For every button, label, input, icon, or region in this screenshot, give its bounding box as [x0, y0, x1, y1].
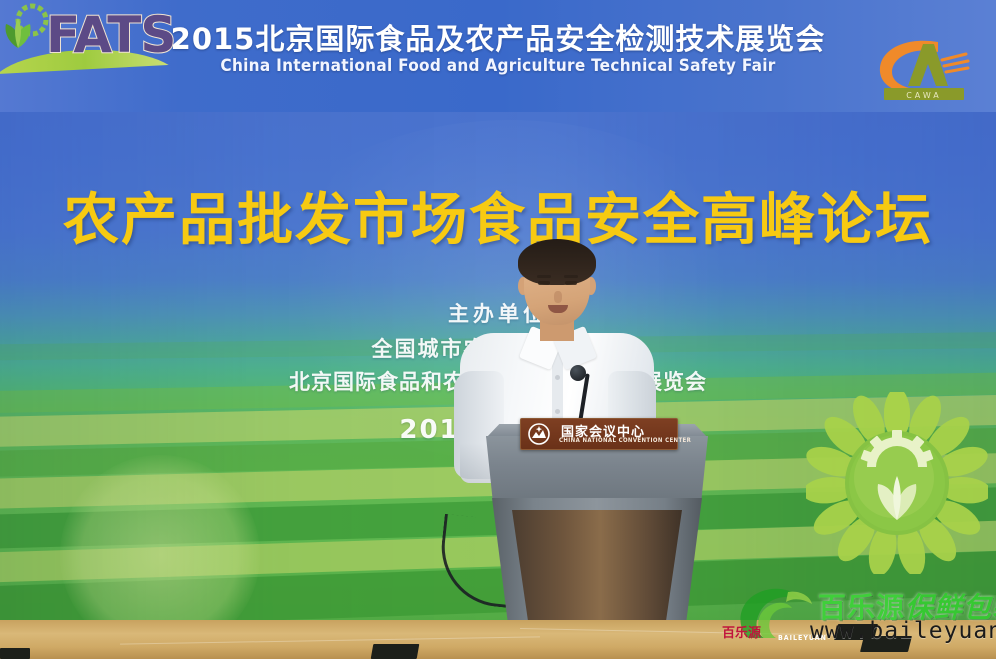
fair-title-english: China International Food and Agriculture… — [0, 56, 996, 76]
eyebrow-left — [537, 275, 551, 278]
hair — [518, 239, 596, 285]
fair-title-chinese: 2015北京国际食品及农产品安全检测技术展览会 — [0, 16, 996, 58]
ccnc-mountain-icon — [527, 423, 551, 445]
watermark: 百乐源保鲜包装 百乐源 BAILEYUAN www.baileyuan.cn — [722, 582, 996, 656]
floor-object — [0, 648, 30, 659]
podium: 国家会议中心 CHINA NATIONAL CONVENTION CENTER — [486, 424, 708, 628]
venue-plaque: 国家会议中心 CHINA NATIONAL CONVENTION CENTER — [520, 418, 678, 450]
svg-text:CAWA: CAWA — [906, 91, 942, 100]
eye-right — [565, 281, 577, 285]
eyebrow-right — [564, 275, 578, 278]
cawa-wheat-icon: CAWA — [868, 30, 978, 108]
podium-wood-panel — [512, 510, 682, 628]
microphone-capsule — [570, 365, 586, 381]
venue-name-english: CHINA NATIONAL CONVENTION CENTER — [559, 437, 691, 444]
watermark-badge-cn: 百乐源 — [722, 622, 761, 641]
nose — [554, 291, 562, 303]
watermark-url[interactable]: www.baileyuan.cn — [810, 618, 996, 644]
shirt-button — [555, 375, 560, 380]
banner-header: FATS 2015北京国际食品及农产品安全检测技术展览会 China Inter… — [0, 0, 996, 112]
conference-photo: 农产品批发市场食品安全高峰论坛 主办单位 全国城市农贸中心联合会 北京国际食品和… — [0, 0, 996, 659]
eye-left — [538, 281, 550, 285]
shirt-button — [555, 409, 560, 414]
floor-object — [371, 644, 420, 659]
